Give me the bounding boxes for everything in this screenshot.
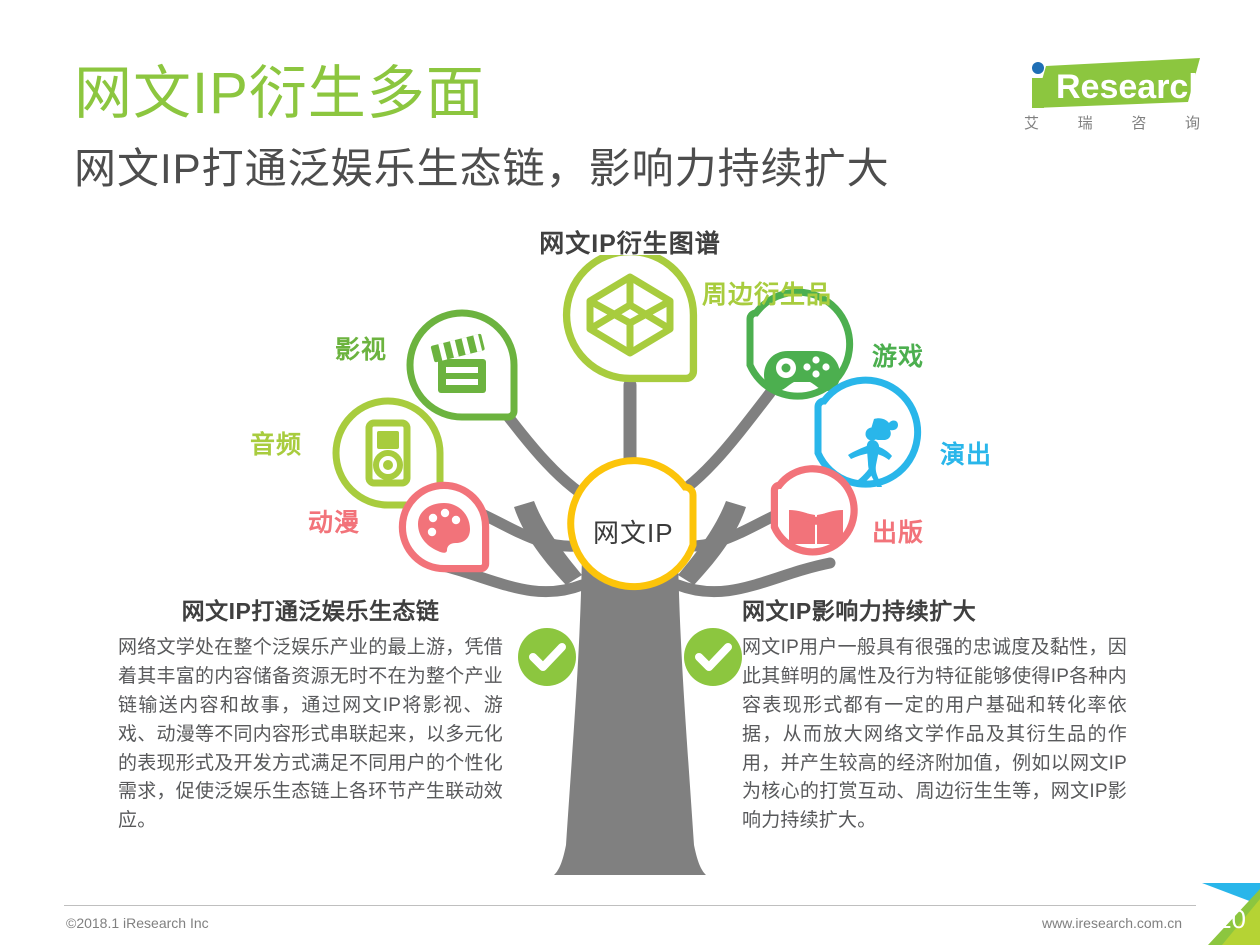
node-yingshi[interactable]: [410, 313, 514, 417]
page-title: 网文IP衍生多面: [74, 62, 485, 127]
info-right-body: 网文IP用户一般具有很强的忠诚度及黏性，因此其鲜明的属性及行为特征能够使得IP各…: [742, 634, 1127, 836]
node-label-yinpin: 音频: [250, 425, 302, 461]
info-block-right: 网文IP影响力持续扩大 网文IP用户一般具有很强的忠诚度及黏性，因此其鲜明的属性…: [742, 592, 1127, 836]
footer-website: www.iresearch.com.cn: [1042, 915, 1182, 931]
node-label-dongman: 动漫: [308, 503, 360, 539]
slide-root: 网文IP衍生多面 网文IP打通泛娱乐生态链，影响力持续扩大 Research 艾…: [0, 0, 1260, 945]
info-block-left: 网文IP打通泛娱乐生态链 网络文学处在整个泛娱乐产业的最上游，凭借着其丰富的内容…: [118, 592, 503, 836]
node-label-chuban: 出版: [872, 513, 924, 549]
info-left-body: 网络文学处在整个泛娱乐产业的最上游，凭借着其丰富的内容储备资源无时不在为整个产业…: [118, 634, 503, 836]
page-subtitle: 网文IP打通泛娱乐生态链，影响力持续扩大: [74, 145, 890, 193]
info-right-heading: 网文IP影响力持续扩大: [742, 592, 1127, 626]
corner-decoration-icon: [1172, 883, 1260, 945]
center-node-label: 网文IP: [593, 513, 674, 550]
node-chuban[interactable]: [774, 469, 854, 552]
node-label-zhoubian: 周边衍生品: [702, 275, 832, 311]
node-label-yingshi: 影视: [335, 330, 387, 366]
node-dongman[interactable]: [402, 485, 485, 568]
node-label-yanchu: 演出: [940, 435, 992, 471]
logo-chinese-name: 艾 瑞 咨 询: [1024, 112, 1200, 133]
node-label-youxi: 游戏: [872, 337, 924, 373]
footer-divider: [64, 905, 1196, 906]
logo-cn-char-3: 询: [1185, 112, 1200, 133]
logo-cn-char-0: 艾: [1024, 112, 1039, 133]
page-number: 10: [1217, 904, 1246, 935]
iresearch-logo: Research 艾 瑞 咨 询: [1020, 58, 1200, 140]
check-badge-right: [684, 628, 742, 686]
node-zhoubian[interactable]: [567, 255, 694, 378]
footer-copyright: ©2018.1 iResearch Inc: [66, 915, 209, 931]
logo-mark-icon: Research: [1020, 58, 1200, 110]
check-badge-left: [518, 628, 576, 686]
svg-text:Research: Research: [1056, 68, 1200, 106]
info-left-heading: 网文IP打通泛娱乐生态链: [118, 592, 503, 626]
logo-cn-char-1: 瑞: [1078, 112, 1093, 133]
logo-cn-char-2: 咨: [1131, 112, 1146, 133]
